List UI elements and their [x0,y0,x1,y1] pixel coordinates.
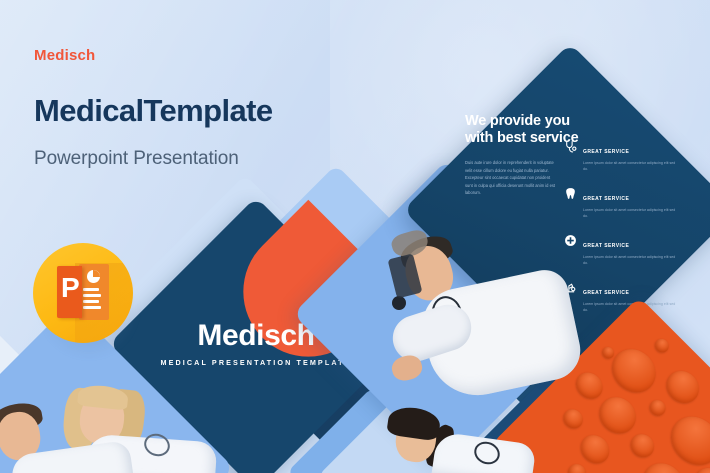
service-feature-desc: Lorem ipsum dolor sit amet consectetur a… [583,160,681,173]
presentation-preview: Medisch MEDICAL PRESENTATION TEMPLATE We… [0,0,710,473]
service-feature-title: GREAT SERVICE [583,196,629,202]
service-feature-item[interactable]: GREAT SERVICE Lorem ipsum dolor sit amet… [563,139,681,173]
service-feature-list: GREAT SERVICE Lorem ipsum dolor sit amet… [563,139,681,327]
service-feature-item[interactable]: GREAT SERVICE Lorem ipsum dolor sit amet… [563,233,681,267]
female-doctor-hair [386,405,442,442]
doc-line [83,300,99,303]
service-feature-desc: Lorem ipsum dolor sit amet consectetur a… [583,207,681,220]
two-doctors-photo [0,386,224,473]
service-heading: We provide you with best service [465,113,578,147]
service-feature-item[interactable]: GREAT SERVICE Lorem ipsum dolor sit amet… [563,186,681,220]
powerpoint-letter: P [61,274,80,302]
pie-chart-glyph [87,270,100,283]
male-doctor-photo [392,232,577,402]
brand-label: Medisch [34,48,273,65]
headline-block: Medisch MedicalTemplate Powerpoint Prese… [34,48,273,170]
doc-line [83,306,101,309]
service-feature-title: GREAT SERVICE [583,243,629,249]
doc-panel-left: P [57,266,82,318]
stethoscope-icon [563,139,578,154]
page-title: MedicalTemplate [34,95,273,128]
powerpoint-doc-glyph: P [57,264,109,320]
doc-line [83,294,101,297]
powerpoint-badge[interactable]: P [33,243,137,347]
doc-line [83,288,99,291]
page-subtitle: Powerpoint Presentation [34,148,273,170]
service-heading-line1: We provide you [465,113,578,130]
doctor-stethoscope-bell [392,296,406,310]
service-feature-title: GREAT SERVICE [583,149,629,155]
powerpoint-icon: P [33,243,133,343]
tooth-icon [563,186,578,201]
service-body-text: Duis aute irure dolor in reprehenderit i… [465,159,557,197]
service-heading-line2: with best service [465,130,578,147]
cover-subtitle: MEDICAL PRESENTATION TEMPLATE [161,358,352,367]
service-feature-desc: Lorem ipsum dolor sit amet consectetur a… [583,254,681,267]
female-doctor-photo [378,402,528,473]
service-feature-item[interactable]: GREAT SERVICE Lorem ipsum dolor sit amet… [563,280,681,314]
service-feature-title: GREAT SERVICE [583,290,629,296]
